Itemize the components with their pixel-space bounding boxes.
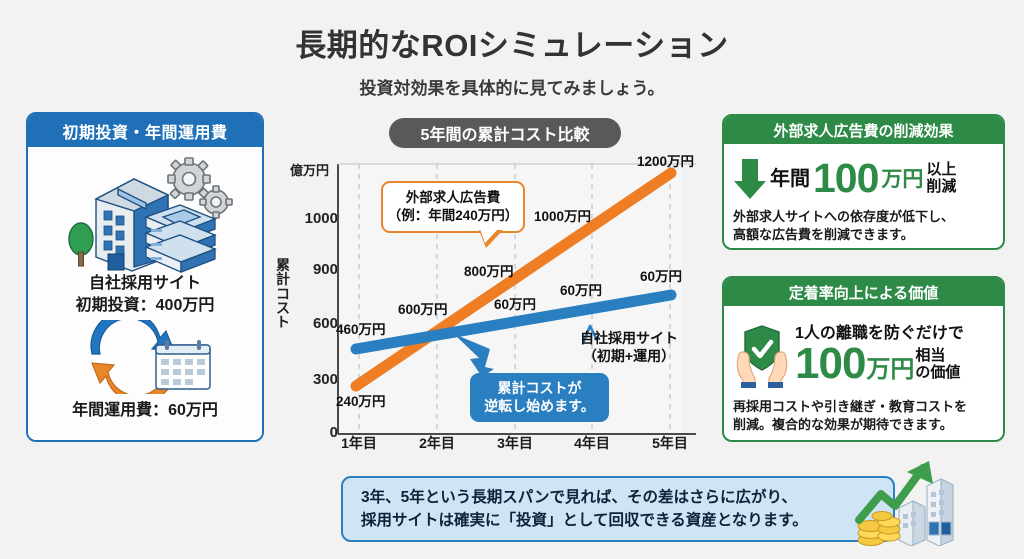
shield-check-hands-icon <box>733 320 791 390</box>
card2-desc-line2: 削減。複合的な効果が期待できます。 <box>733 416 994 434</box>
card-retention-value-header: 定着率向上による価値 <box>724 278 1003 306</box>
card-ad-cost-reduction: 外部求人広告費の削減効果 年間 100 万円 以上 削減 外部求人サイトへの依存… <box>722 114 1005 250</box>
card1-prefix: 年間 <box>770 168 810 190</box>
data-label-blue-y5: 60万円 <box>640 265 682 285</box>
left-panel-caption-site: 自社採用サイト <box>89 273 201 295</box>
card1-desc-line1: 外部求人サイトへの依存度が低下し、 <box>733 208 994 226</box>
blue-callout-line2: 逆転し始めます。 <box>474 397 605 415</box>
data-label-blue-y2: 600万円 <box>398 298 448 318</box>
x-tick-year3: 3年目 <box>485 433 545 453</box>
blue-crossover-callout: 累計コストが 逆転し始めます。 <box>470 373 609 422</box>
blue-series-label-line1: 自社採用サイト <box>580 330 678 348</box>
card1-suffix-line1: 以上 <box>926 162 956 179</box>
card1-desc-line2: 高額な広告費を削減できます。 <box>733 226 994 244</box>
card1-suffix-line2: 削減 <box>926 179 956 196</box>
data-label-blue-y3: 60万円 <box>494 293 536 313</box>
card1-unit: 万円 <box>881 169 923 190</box>
card2-unit: 万円 <box>866 358 914 385</box>
x-tick-year2: 2年目 <box>407 433 467 453</box>
card2-amount: 100 <box>795 344 865 384</box>
card2-suffix-line1: 相当 <box>915 348 960 365</box>
data-label-orange-y4: 1000万円 <box>534 205 591 225</box>
left-panel-caption-initial: 初期投資：400万円 <box>76 295 215 317</box>
card2-desc-line1: 再採用コストや引き継ぎ・教育コストを <box>733 398 994 416</box>
data-label-blue-y1: 460万円 <box>336 318 386 338</box>
recycle-calendar-icon <box>70 320 220 394</box>
chart-title-badge: 5年間の累計コスト比較 <box>389 118 621 148</box>
card1-amount: 100 <box>813 160 878 198</box>
orange-callout-line2: （例：年間240万円） <box>387 207 519 225</box>
page-subtitle: 投資対効果を具体的に見てみましょう。 <box>0 74 1024 99</box>
blue-series-label: 自社採用サイト （初期+運用） <box>580 330 678 365</box>
banner-line1: 3年、5年という長期スパンで見れば、その差はさらに広がり、 <box>361 486 808 509</box>
card-ad-cost-reduction-header: 外部求人広告費の削減効果 <box>724 116 1003 144</box>
building-server-gear-icon <box>50 153 240 273</box>
initial-investment-panel-header: 初期投資・年間運用費 <box>28 114 262 147</box>
x-tick-year4: 4年目 <box>562 433 622 453</box>
card-retention-value-body: 1人の離職を防ぐだけで 100 万円 相当 の価値 再採用コストや引き継ぎ・教育… <box>724 306 1003 441</box>
down-arrow-icon <box>733 157 767 201</box>
data-label-orange-y1: 240万円 <box>336 390 386 410</box>
data-label-orange-y5: 1200万円 <box>637 150 694 170</box>
summary-banner: 3年、5年という長期スパンで見れば、その差はさらに広がり、 採用サイトは確実に「… <box>341 476 895 542</box>
blue-callout-line1: 累計コストが <box>474 379 605 397</box>
initial-investment-panel: 初期投資・年間運用費 <box>26 112 264 442</box>
card-retention-value: 定着率向上による価値 1人の離職を防ぐだけで 100 <box>722 276 1005 442</box>
card2-suffix-line2: の価値 <box>915 365 960 382</box>
page-title: 長期的なROIシミュレーション <box>0 20 1024 65</box>
data-label-blue-y4: 60万円 <box>560 279 602 299</box>
initial-investment-panel-body: 自社採用サイト 初期投資：400万円 <box>28 147 262 440</box>
x-tick-year1: 1年目 <box>329 433 389 453</box>
left-panel-caption-operating: 年間運用費：60万円 <box>72 396 218 420</box>
x-tick-year5: 5年目 <box>640 433 700 453</box>
growth-arrow-coins-buildings-icon <box>845 460 965 546</box>
card-ad-cost-reduction-body: 年間 100 万円 以上 削減 外部求人サイトへの依存度が低下し、 高額な広告費… <box>724 144 1003 250</box>
infographic-root: 長期的なROIシミュレーション 投資対効果を具体的に見てみましょう。 初期投資・… <box>0 0 1024 559</box>
banner-line2: 採用サイトは確実に「投資」として回収できる資産となります。 <box>361 509 808 532</box>
blue-series-label-line2: （初期+運用） <box>580 348 678 366</box>
data-label-orange-y3: 800万円 <box>464 260 514 280</box>
orange-callout-line1: 外部求人広告費 <box>387 189 519 207</box>
orange-series-callout: 外部求人広告費 （例：年間240万円） <box>381 181 525 233</box>
